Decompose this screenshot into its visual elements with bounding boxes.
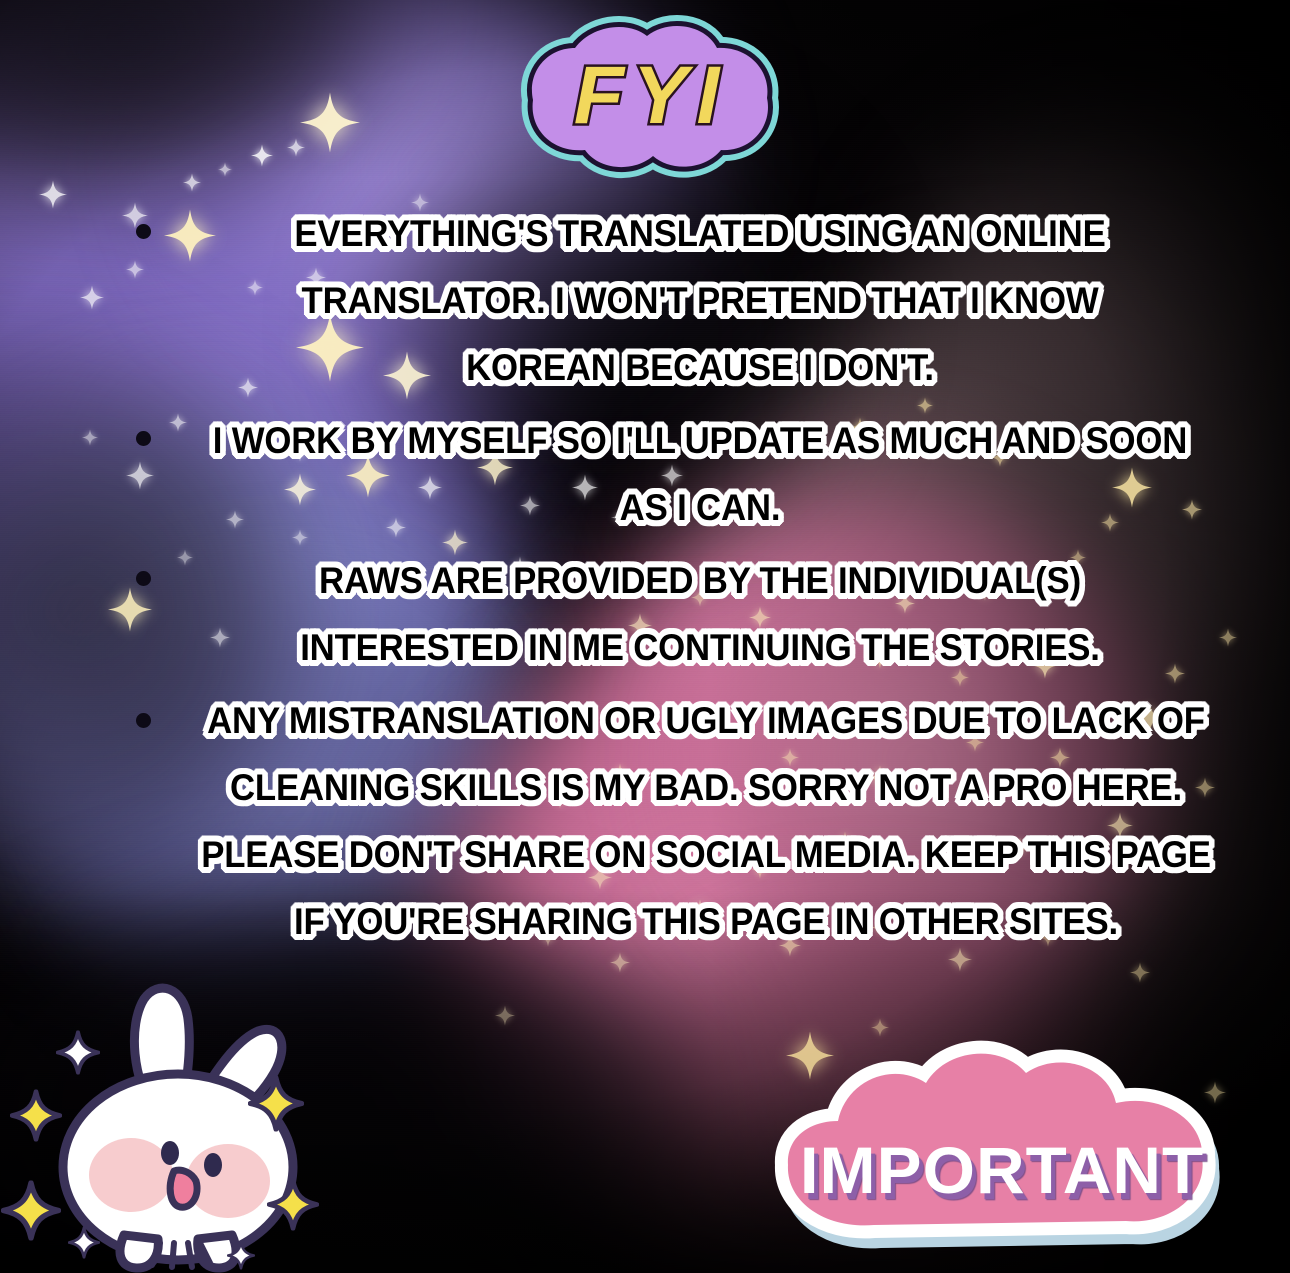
bunny-mouth [170,1170,197,1207]
notice-text: ANY MISTRANSLATION OR UGLY IMAGES DUE TO… [193,687,1219,955]
bullet-icon [136,224,151,239]
fyi-label: FYI [574,50,729,141]
sparkle-icon [300,93,360,158]
bullet-icon [136,431,151,446]
notice-text: EVERYTHING'S TRANSLATED USING AN ONLINE … [202,200,1198,401]
sparkle-icon [287,139,305,162]
bunny-eye-right [204,1153,222,1177]
list-item: ANY MISTRANSLATION OR UGLY IMAGES DUE TO… [0,687,1290,955]
fyi-badge: FYI [505,22,790,174]
sparkle-icon [495,1006,515,1031]
sparkle-icon [218,163,232,182]
bunny-eye-left [161,1141,179,1165]
notice-list: EVERYTHING'S TRANSLATED USING AN ONLINE … [0,200,1290,961]
important-badge: IMPORTANT [742,1035,1262,1265]
notice-text: I WORK BY MYSELF SO I'LL UPDATE AS MUCH … [202,407,1198,541]
dark-smudge-1 [0,0,380,200]
bunny-cheek-left [89,1138,173,1212]
notice-text: RAWS ARE PROVIDED BY THE INDIVIDUAL(S) I… [202,547,1198,681]
sparkle-icon [1130,963,1150,988]
bunny-mascot-icon [28,985,328,1270]
list-item: RAWS ARE PROVIDED BY THE INDIVIDUAL(S) I… [0,547,1290,681]
bullet-icon [136,713,151,728]
list-item: EVERYTHING'S TRANSLATED USING AN ONLINE … [0,200,1290,401]
sparkle-icon [183,174,201,197]
sparkle-icon [251,145,273,172]
fyi-notice-page: FYI EVERYTHING'S TRANSLATED USING AN ONL… [0,0,1290,1273]
bullet-icon [136,571,151,586]
list-item: I WORK BY MYSELF SO I'LL UPDATE AS MUCH … [0,407,1290,541]
